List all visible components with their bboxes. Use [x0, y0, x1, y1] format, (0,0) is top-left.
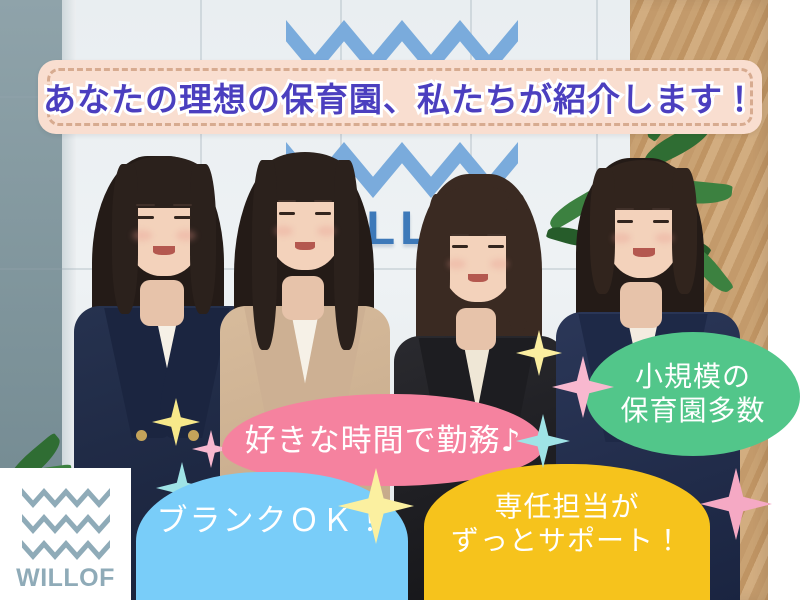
chevron-zigzag-icon — [22, 488, 110, 508]
bubble-dedicated-support: 専任担当が ずっとサポート！ — [424, 464, 710, 600]
willof-wordmark: WILLOF — [0, 564, 131, 593]
wood-pillar-edge — [768, 0, 800, 600]
chevron-zigzag-icon — [22, 514, 110, 534]
bubble-small-nurseries: 小規模の 保育園多数 — [586, 332, 800, 456]
willof-logo-card: WILLOF — [0, 468, 131, 600]
chevron-zigzag-icon — [22, 540, 110, 560]
headline-banner: あなたの理想の保育園、私たちが紹介します！ — [38, 60, 762, 134]
bubble-blank-ok: ブランクＯＫ！ — [136, 472, 408, 600]
bubble-flexible-hours-label: 好きな時間で勤務♪ — [245, 423, 522, 461]
bubble-small-nurseries-label: 小規模の 保育園多数 — [620, 360, 765, 428]
bubble-dedicated-support-label: 専任担当が ずっとサポート！ — [451, 490, 683, 558]
poster-root: WILLOF — [0, 0, 800, 600]
headline-text: あなたの理想の保育園、私たちが紹介します！ — [38, 60, 762, 134]
